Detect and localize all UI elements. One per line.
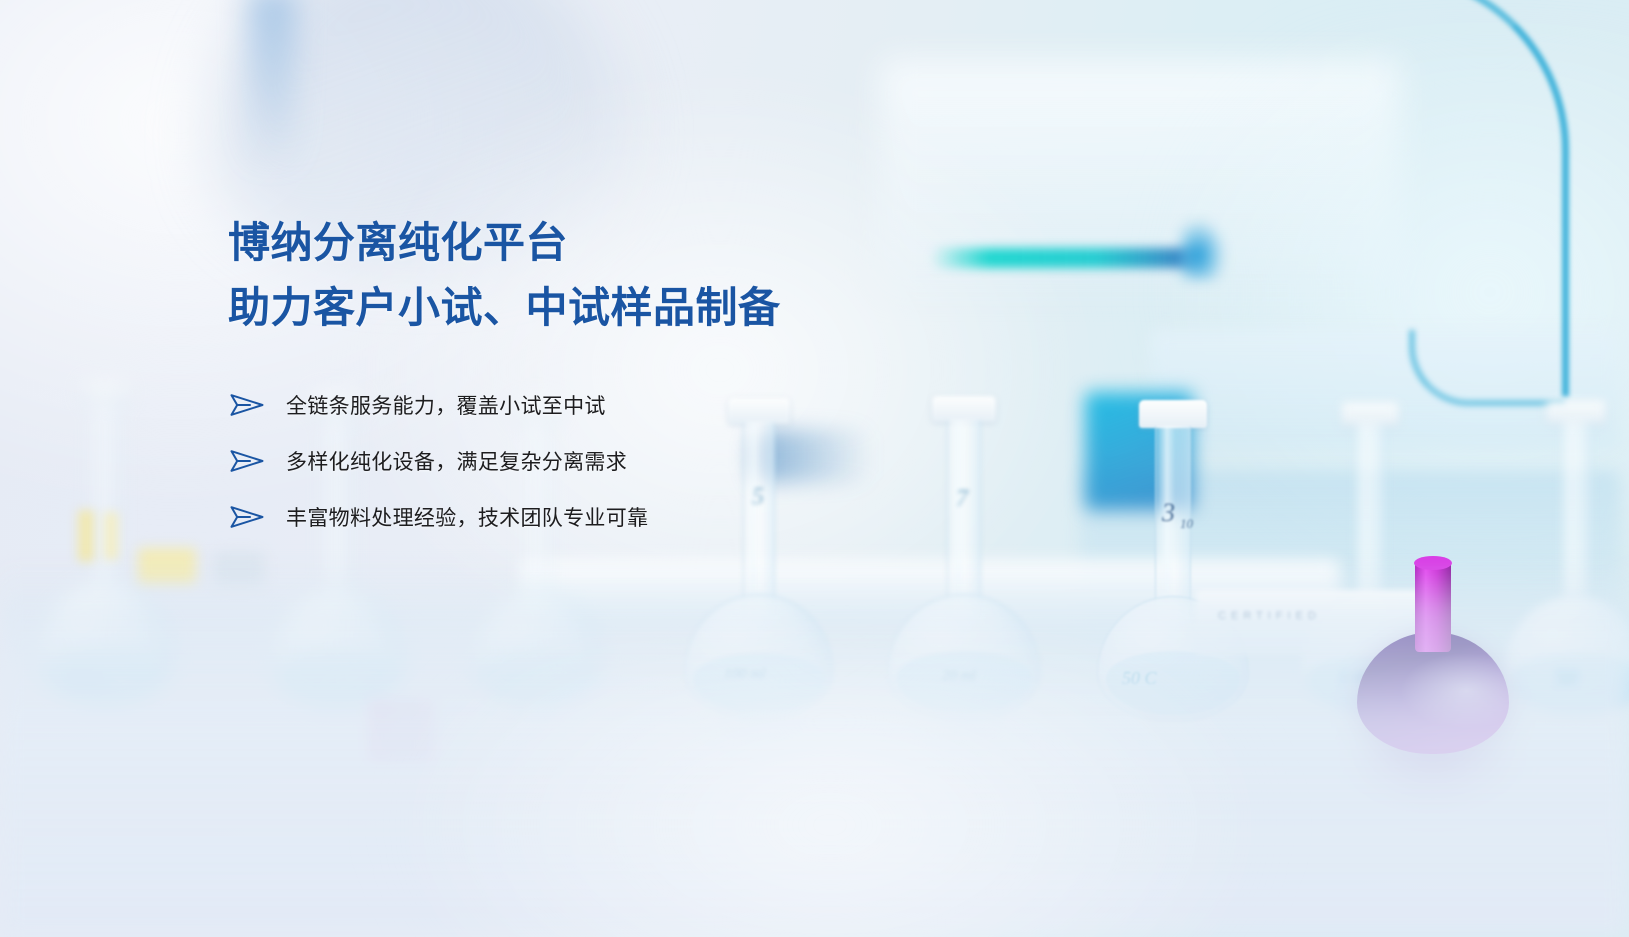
feature-label: 多样化纯化设备，满足复杂分离需求 [286, 446, 627, 476]
light-bloom-bottom [380, 657, 1280, 937]
headline-line-2: 助力客户小试、中试样品制备 [228, 275, 1108, 340]
blurred-yellow-label-b [104, 512, 118, 560]
list-item: 多样化纯化设备，满足复杂分离需求 [228, 446, 1108, 476]
hero-banner: 50 ml 5 100 ml [0, 0, 1629, 937]
headline-line-1: 博纳分离纯化平台 [228, 210, 1108, 275]
blue-accent-dot [1180, 218, 1226, 280]
list-item: 全链条服务能力，覆盖小试至中试 [228, 390, 1108, 420]
banner-content: 博纳分离纯化平台 助力客户小试、中试样品制备 全链条服务能力，覆盖小试至中试 [228, 210, 1108, 532]
feature-label: 丰富物料处理经验，技术团队专业可靠 [286, 502, 648, 532]
send-arrow-icon [228, 447, 268, 475]
feature-label: 全链条服务能力，覆盖小试至中试 [286, 390, 606, 420]
send-arrow-icon [228, 503, 268, 531]
send-arrow-icon [228, 391, 268, 419]
feature-list: 全链条服务能力，覆盖小试至中试 多样化纯化设备，满足复杂分离需求 [228, 390, 1108, 532]
list-item: 丰富物料处理经验，技术团队专业可靠 [228, 502, 1108, 532]
blurred-yellow-label-a [78, 510, 94, 562]
blurred-blue-streak [248, 0, 296, 170]
